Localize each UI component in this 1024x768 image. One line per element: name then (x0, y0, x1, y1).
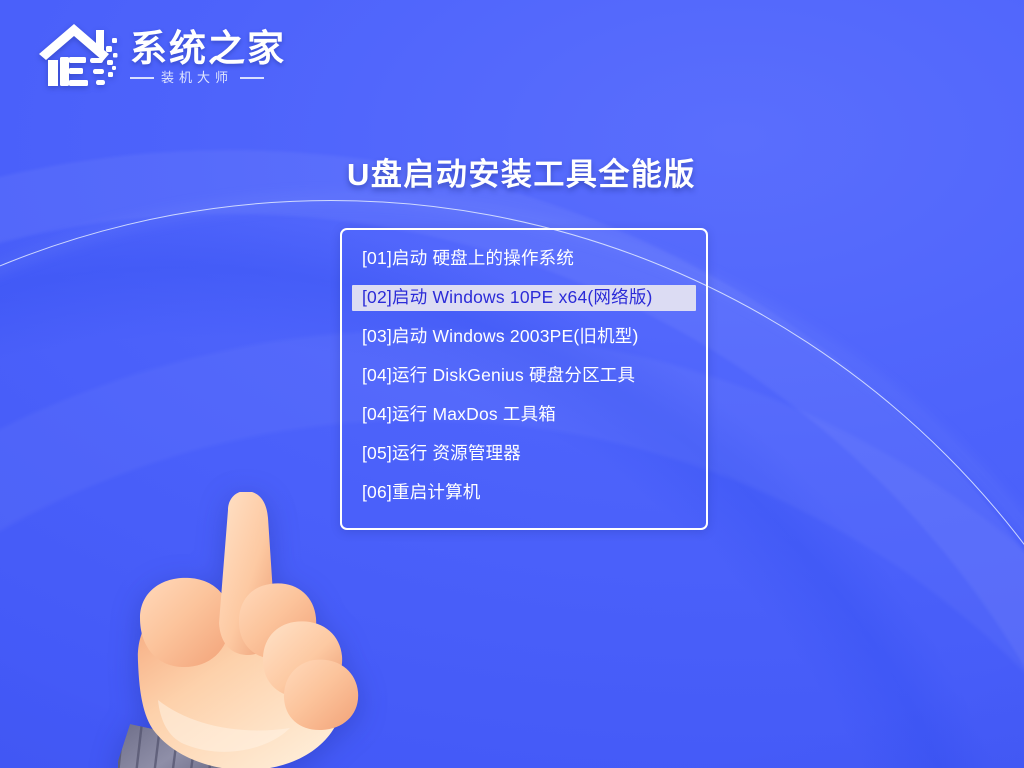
menu-item-04-maxdos[interactable]: [04]运行 MaxDos 工具箱 (352, 402, 696, 428)
tagline-rule-left (130, 77, 154, 79)
brand-tagline: 装机大师 (130, 71, 286, 84)
menu-item-03[interactable]: [03]启动 Windows 2003PE(旧机型) (352, 324, 696, 350)
menu-item-04-diskgenius[interactable]: [04]运行 DiskGenius 硬盘分区工具 (352, 363, 696, 389)
menu-item-06[interactable]: [06]重启计算机 (352, 480, 696, 506)
tagline-text: 装机大师 (161, 71, 233, 84)
brand-name: 系统之家 (130, 30, 286, 67)
boot-menu-panel: [01]启动 硬盘上的操作系统 [02]启动 Windows 10PE x64(… (340, 228, 708, 530)
brand-text-block: 系统之家 装机大师 (130, 26, 286, 84)
boot-menu-list: [01]启动 硬盘上的操作系统 [02]启动 Windows 10PE x64(… (342, 246, 706, 506)
menu-item-05[interactable]: [05]运行 资源管理器 (352, 441, 696, 467)
menu-item-01[interactable]: [01]启动 硬盘上的操作系统 (352, 246, 696, 272)
house-logo-icon (36, 16, 118, 94)
tagline-rule-right (240, 77, 264, 79)
brand-logo: 系统之家 装机大师 (36, 16, 286, 94)
page-title: U盘启动安装工具全能版 (347, 156, 696, 195)
boot-menu-screen: 系统之家 装机大师 U盘启动安装工具全能版 [01]启动 硬盘上的操作系统 [0… (0, 0, 1024, 768)
menu-item-02[interactable]: [02]启动 Windows 10PE x64(网络版) (352, 285, 696, 311)
